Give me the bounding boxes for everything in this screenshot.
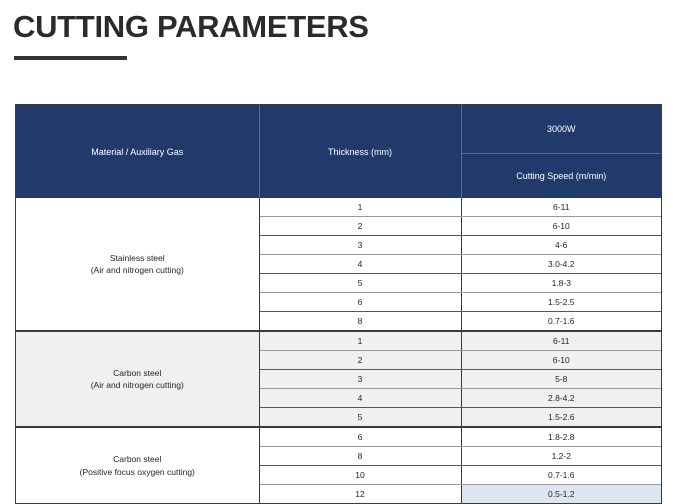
cutting-speed-cell: 0.7-1.6 bbox=[461, 466, 661, 485]
thickness-cell: 3 bbox=[259, 236, 461, 255]
column-header-material: Material / Auxiliary Gas bbox=[16, 105, 259, 198]
thickness-cell: 2 bbox=[259, 217, 461, 236]
table-header: Material / Auxiliary Gas Thickness (mm) … bbox=[16, 105, 661, 198]
column-header-power: 3000W bbox=[461, 105, 661, 154]
cutting-speed-cell: 3.0-4.2 bbox=[461, 255, 661, 274]
cutting-speed-cell-highlighted: 0.5-1.2 bbox=[461, 485, 661, 504]
thickness-cell: 4 bbox=[259, 389, 461, 408]
cutting-speed-cell: 5-8 bbox=[461, 370, 661, 389]
material-gas-note: (Air and nitrogen cutting) bbox=[16, 379, 259, 391]
cutting-speed-cell: 6-10 bbox=[461, 351, 661, 370]
thickness-cell: 1 bbox=[259, 198, 461, 217]
column-header-thickness: Thickness (mm) bbox=[259, 105, 461, 198]
thickness-cell: 8 bbox=[259, 447, 461, 466]
cutting-speed-cell: 1.5-2.6 bbox=[461, 408, 661, 428]
table-row: Carbon steel(Positive focus oxygen cutti… bbox=[16, 427, 661, 447]
thickness-cell: 10 bbox=[259, 466, 461, 485]
cutting-speed-cell: 6-11 bbox=[461, 198, 661, 217]
cutting-speed-cell: 1.2-2 bbox=[461, 447, 661, 466]
material-group-cell: Carbon steel(Positive focus oxygen cutti… bbox=[16, 427, 259, 503]
material-group-cell: Carbon steel(Air and nitrogen cutting) bbox=[16, 331, 259, 427]
column-header-cutting-speed: Cutting Speed (m/min) bbox=[461, 154, 661, 199]
cutting-speed-cell: 1.8-2.8 bbox=[461, 427, 661, 447]
cutting-speed-cell: 4-6 bbox=[461, 236, 661, 255]
header-row: Material / Auxiliary Gas Thickness (mm) … bbox=[16, 105, 661, 154]
material-gas-note: (Air and nitrogen cutting) bbox=[16, 264, 259, 276]
cutting-parameters-table-wrapper: Material / Auxiliary Gas Thickness (mm) … bbox=[15, 104, 662, 504]
thickness-cell: 1 bbox=[259, 331, 461, 351]
table-body: Stainless steel(Air and nitrogen cutting… bbox=[16, 198, 661, 503]
table-row: Stainless steel(Air and nitrogen cutting… bbox=[16, 198, 661, 217]
thickness-cell: 5 bbox=[259, 274, 461, 293]
page-title: CUTTING PARAMETERS bbox=[13, 10, 369, 44]
thickness-cell: 8 bbox=[259, 312, 461, 332]
cutting-speed-cell: 6-11 bbox=[461, 331, 661, 351]
thickness-cell: 2 bbox=[259, 351, 461, 370]
thickness-cell: 5 bbox=[259, 408, 461, 428]
thickness-cell: 4 bbox=[259, 255, 461, 274]
material-group-cell: Stainless steel(Air and nitrogen cutting… bbox=[16, 198, 259, 331]
material-name: Stainless steel bbox=[16, 252, 259, 264]
thickness-cell: 12 bbox=[259, 485, 461, 504]
cutting-speed-cell: 0.7-1.6 bbox=[461, 312, 661, 332]
cutting-speed-cell: 1.5-2.5 bbox=[461, 293, 661, 312]
thickness-cell: 3 bbox=[259, 370, 461, 389]
cutting-parameters-table: Material / Auxiliary Gas Thickness (mm) … bbox=[16, 105, 661, 503]
thickness-cell: 6 bbox=[259, 293, 461, 312]
material-name: Carbon steel bbox=[16, 453, 259, 465]
title-underline-rule bbox=[14, 56, 127, 60]
cutting-speed-cell: 6-10 bbox=[461, 217, 661, 236]
table-row: Carbon steel(Air and nitrogen cutting)16… bbox=[16, 331, 661, 351]
cutting-speed-cell: 1.8-3 bbox=[461, 274, 661, 293]
thickness-cell: 6 bbox=[259, 427, 461, 447]
cutting-speed-cell: 2.8-4.2 bbox=[461, 389, 661, 408]
material-name: Carbon steel bbox=[16, 367, 259, 379]
material-gas-note: (Positive focus oxygen cutting) bbox=[16, 466, 259, 478]
